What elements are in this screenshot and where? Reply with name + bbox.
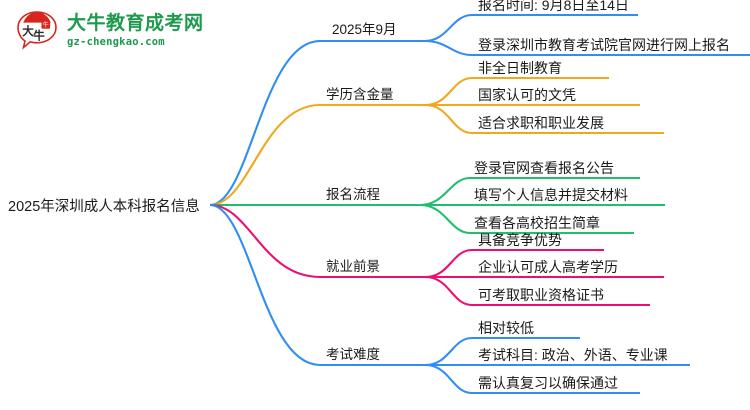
mindmap-canvas: 2025年深圳成人本科报名信息 2025年9月 报名时间: 9月8日至14日 登…	[0, 0, 750, 410]
branch-1-leaf-2: 登录深圳市教育考试院官网进行网上报名	[478, 37, 730, 53]
branch-2-label: 学历含金量	[326, 87, 394, 102]
branch-3-leaf-1: 登录官网查看报名公告	[474, 160, 614, 176]
branch-2-trunk	[210, 105, 425, 205]
branch-4-trunk	[210, 205, 425, 277]
branch-2[interactable]: 学历含金量 非全日制教育 国家认可的文凭 适合求职和职业发展	[210, 60, 664, 205]
branch-1-leaf-1: 报名时间: 9月8日至14日	[478, 0, 629, 13]
branch-3-leaf-2: 填写个人信息并提交材料	[474, 187, 628, 203]
branch-3[interactable]: 报名流程 登录官网查看报名公告 填写个人信息并提交材料 查看各高校招生简章	[210, 160, 665, 233]
branch-5-trunk	[210, 205, 425, 365]
branch-2-leaf-3: 适合求职和职业发展	[478, 115, 604, 131]
branch-5-leaf-3: 需认真复习以确保通过	[478, 375, 618, 391]
branch-4-label: 就业前景	[326, 258, 380, 274]
branch-3-leaf-3: 查看各高校招生简章	[474, 215, 600, 231]
branch-5-leaf-2: 考试科目: 政治、外语、专业课	[478, 347, 668, 363]
root-label: 2025年深圳成人本科报名信息	[8, 198, 200, 215]
branch-5-leaf-1: 相对较低	[478, 320, 534, 336]
branch-5-label: 考试难度	[326, 347, 380, 362]
branch-3-label: 报名流程	[326, 187, 380, 202]
mindmap-root-node[interactable]: 2025年深圳成人本科报名信息	[8, 198, 200, 215]
mindmap-page: 牛 大 牛 大牛教育成考网 gz-chengkao.com 2025年深圳成人本…	[0, 0, 750, 410]
branch-1-label: 2025年9月	[332, 22, 397, 37]
branch-4-leaf-1: 具备竞争优势	[478, 232, 562, 248]
branch-4-leaf-3: 可考取职业资格证书	[478, 287, 604, 303]
branch-2-leaf-1: 非全日制教育	[478, 60, 562, 76]
branch-4-leaf-2: 企业认可成人高考学历	[478, 259, 618, 275]
branch-2-leaf-2: 国家认可的文凭	[478, 87, 576, 103]
